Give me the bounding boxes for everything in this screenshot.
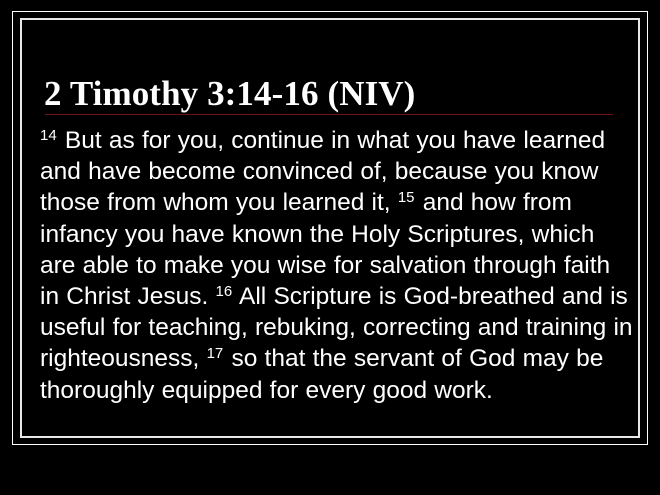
verse-number: 16 (215, 283, 233, 300)
title-divider-rule (45, 114, 613, 115)
verse-number: 17 (207, 345, 225, 362)
verse-number: 15 (398, 189, 416, 206)
verse-number: 14 (40, 127, 58, 144)
slide-content-area: 2 Timothy 3:14-16 (NIV) 14 But as for yo… (22, 20, 638, 436)
scripture-slide: 2 Timothy 3:14-16 (NIV) 14 But as for yo… (0, 0, 660, 495)
scripture-body-text: 14 But as for you, continue in what you … (40, 125, 636, 406)
slide-title: 2 Timothy 3:14-16 (NIV) (44, 72, 415, 116)
